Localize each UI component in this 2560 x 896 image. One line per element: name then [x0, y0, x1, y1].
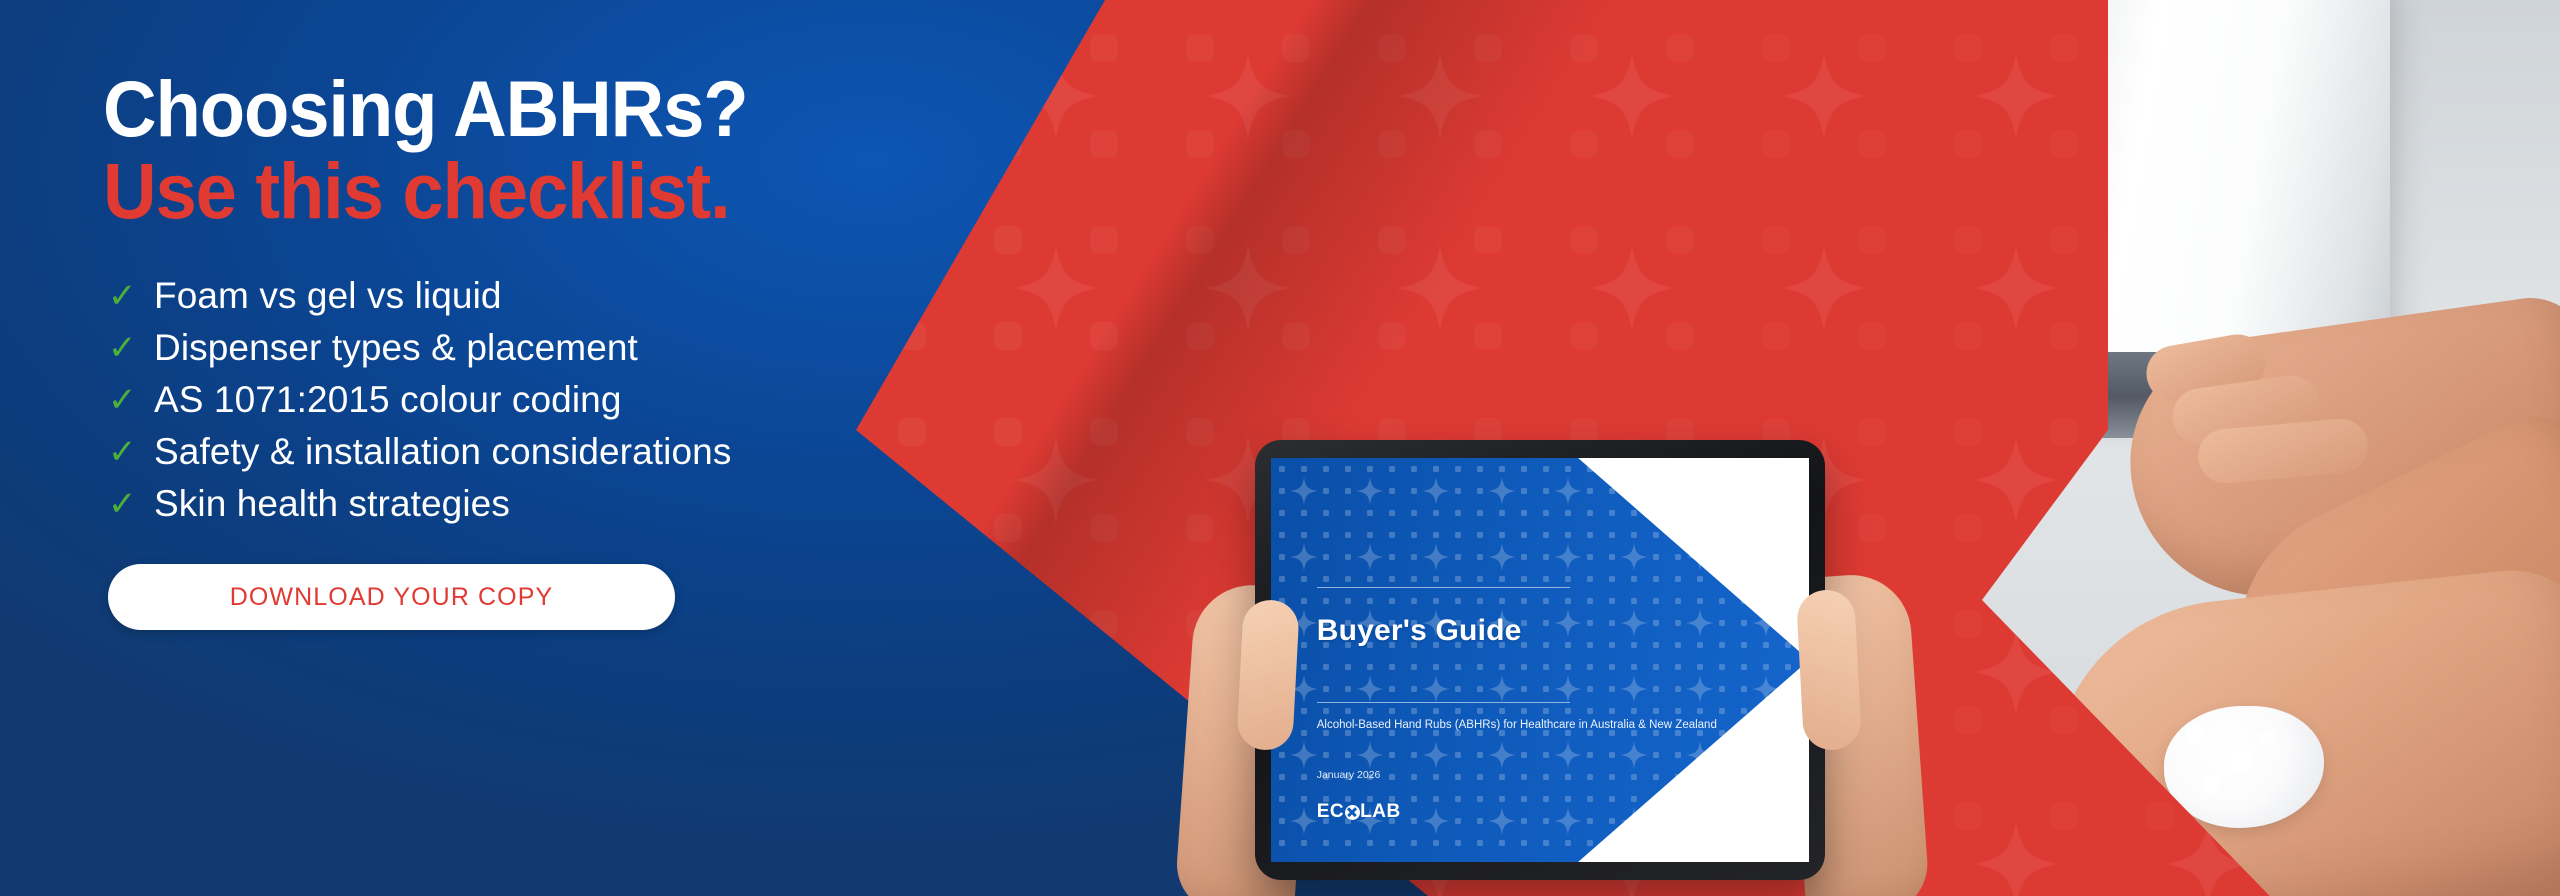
tablet-device: Buyer's Guide Alcohol-Based Hand Rubs (A… — [1255, 440, 1825, 880]
check-icon: ✓ — [108, 435, 154, 469]
list-item: ✓ Skin health strategies — [108, 484, 1223, 524]
list-item-label: Dispenser types & placement — [154, 328, 638, 368]
slide-subtitle: Alcohol-Based Hand Rubs (ABHRs) for Heal… — [1317, 719, 1717, 731]
foam-bubble — [2202, 776, 2220, 794]
right-thumb — [1796, 589, 1862, 752]
page-title: Choosing ABHRs? Use this checklist. — [103, 70, 1156, 230]
tablet-screen: Buyer's Guide Alcohol-Based Hand Rubs (A… — [1271, 458, 1809, 862]
banner-content: Choosing ABHRs? Use this checklist. ✓ Fo… — [103, 70, 1223, 630]
slide-date: January 2026 — [1317, 769, 1381, 781]
foam-bubble — [2186, 724, 2206, 744]
logo-text-part1: EC — [1317, 801, 1344, 823]
guide-cover-slide: Buyer's Guide Alcohol-Based Hand Rubs (A… — [1271, 458, 1809, 862]
check-icon: ✓ — [108, 331, 154, 365]
list-item: ✓ Foam vs gel vs liquid — [108, 276, 1223, 316]
foam-bubble — [2228, 746, 2254, 772]
headline-line-2: Use this checklist. — [103, 152, 1156, 230]
slide-title: Buyer's Guide — [1317, 614, 1522, 648]
check-icon: ✓ — [108, 487, 154, 521]
check-icon: ✓ — [108, 383, 154, 417]
list-item: ✓ AS 1071:2015 colour coding — [108, 380, 1223, 420]
ecolab-logo: EC LAB — [1317, 801, 1401, 823]
check-icon: ✓ — [108, 279, 154, 313]
slide-divider-top — [1317, 587, 1570, 588]
checklist: ✓ Foam vs gel vs liquid ✓ Dispenser type… — [108, 276, 1223, 524]
headline-line-1: Choosing ABHRs? — [103, 70, 1156, 148]
slide-divider-bottom — [1317, 702, 1570, 703]
download-your-copy-button[interactable]: DOWNLOAD YOUR COPY — [108, 564, 675, 630]
list-item-label: AS 1071:2015 colour coding — [154, 380, 622, 420]
marketing-banner: Buyer's Guide Alcohol-Based Hand Rubs (A… — [0, 0, 2560, 896]
logo-text-part2: LAB — [1360, 801, 1401, 823]
left-thumb — [1236, 599, 1300, 752]
list-item: ✓ Dispenser types & placement — [108, 328, 1223, 368]
foam-bubble — [2260, 730, 2274, 744]
list-item: ✓ Safety & installation considerations — [108, 432, 1223, 472]
logo-crossed-circle-icon — [1345, 805, 1360, 820]
list-item-label: Safety & installation considerations — [154, 432, 731, 472]
list-item-label: Foam vs gel vs liquid — [154, 276, 502, 316]
list-item-label: Skin health strategies — [154, 484, 510, 524]
